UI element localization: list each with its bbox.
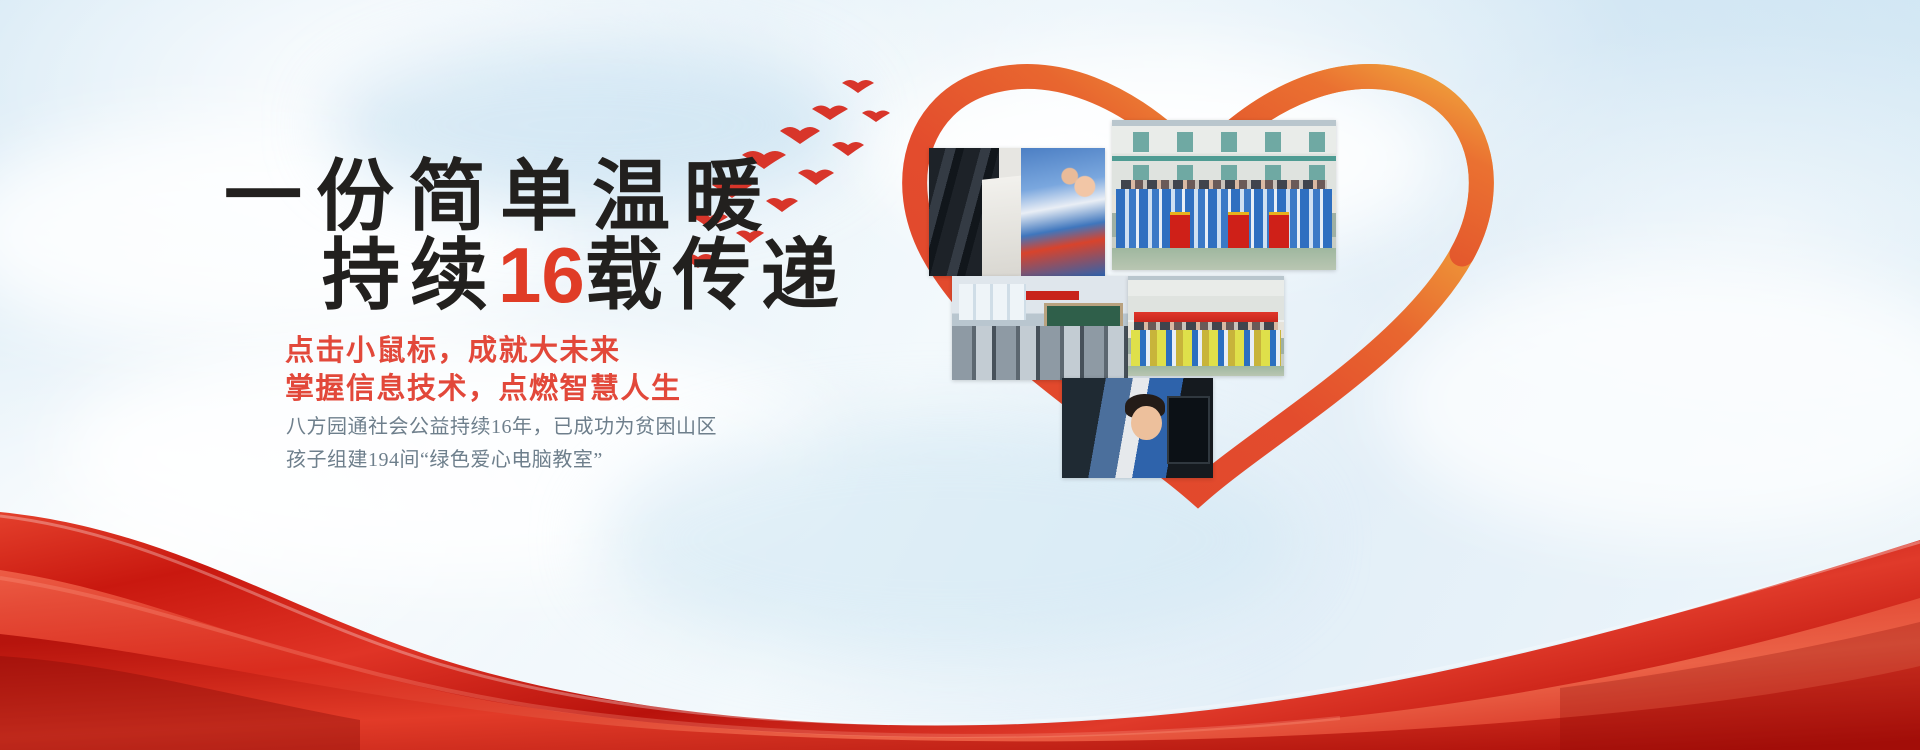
headline-suffix: 载传递 <box>585 232 849 319</box>
subhead-line-1: 点击小鼠标，成就大未来 <box>285 327 621 369</box>
promotional-banner: 一份简单温暖 持续16载传递 点击小鼠标，成就大未来 掌握信息技术，点燃智慧人生… <box>0 0 1920 750</box>
photo-ceremony-a[interactable] <box>1112 120 1336 270</box>
headline-line-2: 持续16载传递 <box>322 236 849 315</box>
headline-year-count: 16 <box>498 231 585 319</box>
headline-prefix: 持续 <box>322 232 498 319</box>
photo-classroom-a[interactable] <box>929 148 1105 276</box>
headline-line-1: 一份简单温暖 <box>224 158 776 236</box>
red-silk-ribbon-wave <box>0 420 1920 750</box>
photo-ceremony-b[interactable] <box>1128 276 1284 376</box>
subhead-line-2: 掌握信息技术，点燃智慧人生 <box>285 365 682 407</box>
photo-classroom-b[interactable] <box>952 276 1128 380</box>
